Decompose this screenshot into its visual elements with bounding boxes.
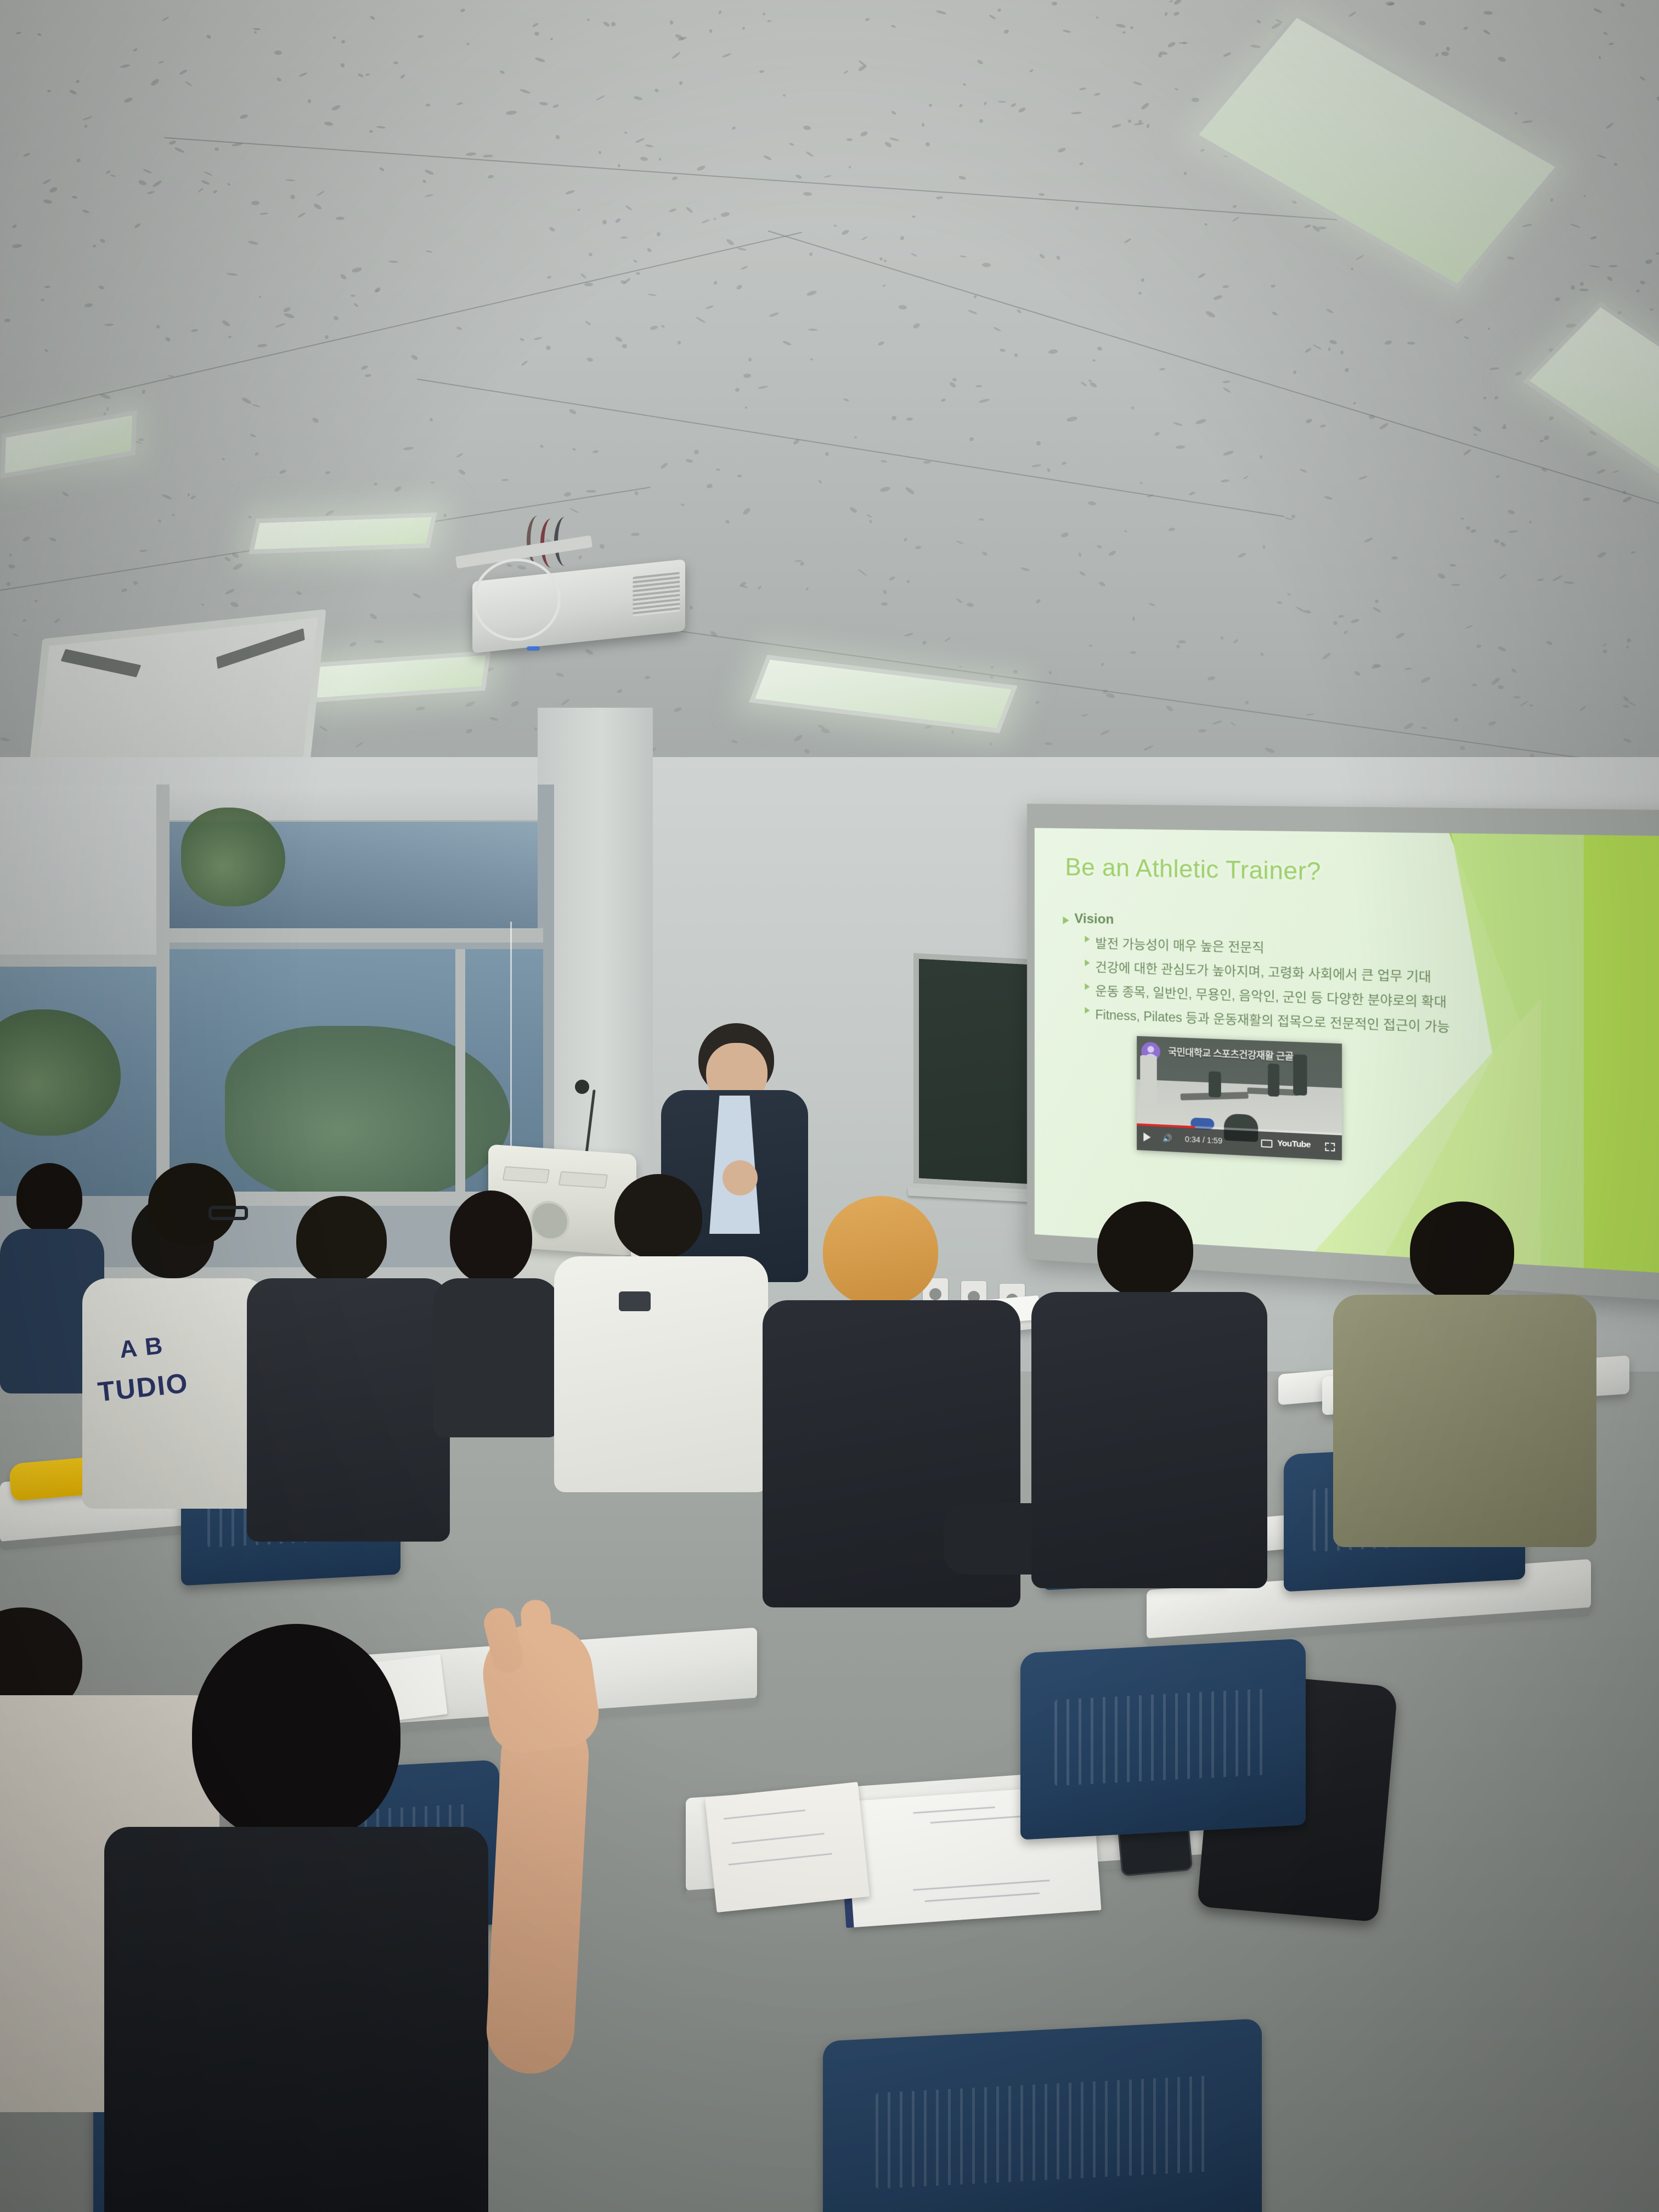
student-hair [450,1190,532,1284]
video-person [1293,1054,1307,1096]
bullet-triangle-icon [1085,1007,1090,1014]
slide-bullets: Vision 발전 가능성이 매우 높은 전문직 건강에 대한 관심도가 높아지… [1063,911,1504,1042]
amp-slot [503,1166,550,1183]
window-glass-main [165,949,543,1196]
window-mullion [0,955,165,967]
student [763,1196,998,1602]
video-equipment [1140,1055,1157,1104]
window-mullion [455,949,465,1196]
student [1333,1201,1575,1542]
bullet-triangle-icon [1085,960,1090,966]
front-student [93,1624,532,2212]
student-top [433,1278,560,1437]
open-notebook-left-page[interactable] [705,1782,870,1912]
finger [520,1599,555,1672]
student-hoodie [1031,1292,1267,1588]
front-student-hair [192,1624,400,1843]
front-student-arm [472,1624,636,2074]
jacket-logo [619,1291,651,1311]
slide-section-heading: Vision [1074,911,1114,928]
bullet-triangle-icon [1063,917,1069,924]
video-person [1268,1063,1279,1097]
student-hoodie [247,1278,450,1542]
video-person [1209,1071,1221,1098]
volume-icon[interactable]: 🔊 [1163,1133,1172,1143]
hoodie-text-line1: A B [119,1332,165,1364]
ac-vent [61,649,142,678]
fullscreen-icon[interactable] [1325,1142,1335,1151]
video-time-display: 0:34 / 1:59 [1185,1135,1222,1145]
student-hair [1410,1201,1514,1300]
student [247,1196,428,1536]
play-icon[interactable] [1143,1132,1150,1143]
window-blind[interactable] [0,785,165,966]
forearm [484,1709,591,2075]
window-mullion [165,928,543,943]
front-student-shirt [104,1827,488,2212]
youtube-logo: YouTube [1277,1138,1311,1150]
window-glass-upper [165,822,538,932]
student-jacket [554,1256,768,1492]
student-olive-jacket [1333,1295,1596,1547]
bullet-triangle-icon [1085,983,1090,990]
student-hair [16,1163,82,1233]
chair[interactable] [1020,1638,1306,1839]
ac-vent [216,628,305,669]
student [554,1174,746,1487]
eyeglasses [208,1206,248,1220]
student [433,1190,560,1421]
microphone-head [575,1080,589,1094]
slide-bullet-text: 건강에 대한 관심도가 높아지며, 고령화 사회에서 큰 업무 기대 [1095,956,1431,985]
student [1031,1201,1251,1585]
captions-icon[interactable] [1261,1139,1273,1148]
classroom-photo: Be an Athletic Trainer? Vision 발전 가능성이 매… [0,0,1659,2212]
student-hair [614,1174,702,1259]
embedded-video[interactable]: 국민대학교 스포츠건강재활 근골... 🔊 0:34 / 1:59 [1137,1036,1342,1160]
student-hair [1097,1201,1193,1297]
window-mullion [156,785,170,1223]
bullet-triangle-icon [1085,936,1090,943]
slide-bullet-text: 발전 가능성이 매우 높은 전문직 [1095,933,1264,956]
slide-title: Be an Athletic Trainer? [1065,854,1321,886]
student-hair [296,1196,387,1284]
student [132,1163,241,1328]
projector-vent-grill [633,572,680,616]
projector-power-led [527,646,540,651]
chair[interactable] [823,2018,1262,2212]
student-hair [148,1163,236,1245]
window-glass-left [0,966,165,1196]
student-hair-blond [823,1196,938,1306]
ceiling-light-panel [249,512,437,554]
blind-cord[interactable] [510,922,512,1163]
